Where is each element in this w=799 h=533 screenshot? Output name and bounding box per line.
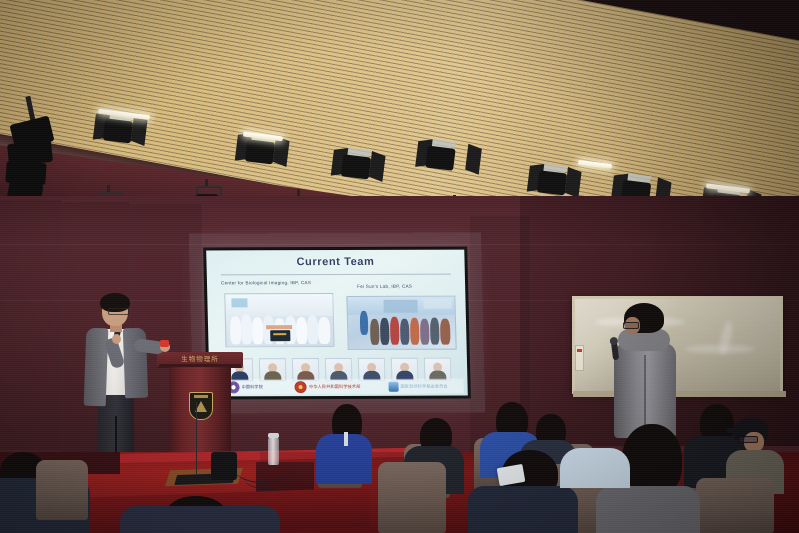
fresnel-light-4 bbox=[416, 141, 478, 184]
seat-9[interactable] bbox=[36, 460, 88, 520]
questioner-hoodie-seam bbox=[644, 355, 646, 425]
portrait-6 bbox=[391, 358, 419, 381]
water-bottle-cap bbox=[268, 433, 279, 438]
seat-8[interactable] bbox=[696, 478, 774, 533]
logo-most: 中华人民共和国科学技术部 bbox=[295, 380, 361, 392]
speaker-hand-left bbox=[112, 334, 121, 344]
presentation-clicker bbox=[160, 340, 169, 347]
portrait-7 bbox=[424, 358, 452, 381]
seat-6[interactable] bbox=[378, 462, 446, 533]
attendee-7-body bbox=[596, 486, 700, 533]
auditorium-photo: Current Team Center for Biological Imagi… bbox=[0, 0, 799, 533]
slide-logo-row: 中国科学院 中华人民共和国科学技术部 国家自然科学基金委员会 bbox=[213, 379, 463, 395]
cable-drop bbox=[196, 402, 207, 474]
slide-section-label-right: Fei Sun's Lab, IBP, CAS bbox=[357, 284, 412, 289]
whiteboard-control-box[interactable] bbox=[575, 345, 584, 371]
slide-section-label-left: Center for Biological Imaging, IBP, CAS bbox=[221, 280, 311, 285]
logo-nsfc: 国家自然科学基金委员会 bbox=[388, 381, 447, 391]
speaker-jacket-right bbox=[123, 328, 148, 399]
audience-questioner bbox=[606, 303, 684, 438]
wall-panel-1 bbox=[0, 200, 63, 450]
screen-frame: Current Team Center for Biological Imagi… bbox=[203, 247, 471, 400]
portrait-2 bbox=[259, 358, 287, 381]
most-logo-mark bbox=[295, 381, 307, 393]
attendee-1-lanyard bbox=[344, 432, 348, 446]
speaker-presenter bbox=[72, 296, 168, 468]
nsfc-logo-mark bbox=[388, 381, 398, 391]
questioner-eyeglasses-icon bbox=[623, 322, 639, 329]
portrait-5 bbox=[358, 358, 386, 381]
attendee-8-body bbox=[468, 486, 578, 533]
eyeglasses-icon bbox=[108, 308, 129, 315]
logo-most-label: 中华人民共和国科学技术部 bbox=[309, 383, 361, 389]
attendee-11-body bbox=[120, 506, 280, 533]
team-photo-right bbox=[346, 296, 456, 350]
portrait-3 bbox=[292, 358, 320, 381]
cable-2 bbox=[244, 468, 288, 489]
team-photo-left bbox=[224, 293, 334, 347]
projection-screen[interactable]: Current Team Center for Biological Imagi… bbox=[203, 247, 471, 400]
presentation-slide: Current Team Center for Biological Imagi… bbox=[206, 250, 468, 397]
logo-cas-label: 中国科学院 bbox=[241, 384, 263, 390]
slide-title-divider bbox=[221, 274, 451, 276]
attendee-6-eyeglasses-icon bbox=[738, 436, 758, 443]
fresnel-light-3 bbox=[332, 149, 381, 184]
logo-nsfc-label: 国家自然科学基金委员会 bbox=[400, 383, 447, 389]
slide-title: Current Team bbox=[206, 256, 464, 269]
attendee-9-shirt bbox=[560, 448, 630, 488]
lectern-inscription: 生物物理所 bbox=[157, 353, 243, 363]
portrait-4 bbox=[325, 358, 353, 381]
speaker-jacket-left bbox=[84, 328, 109, 407]
